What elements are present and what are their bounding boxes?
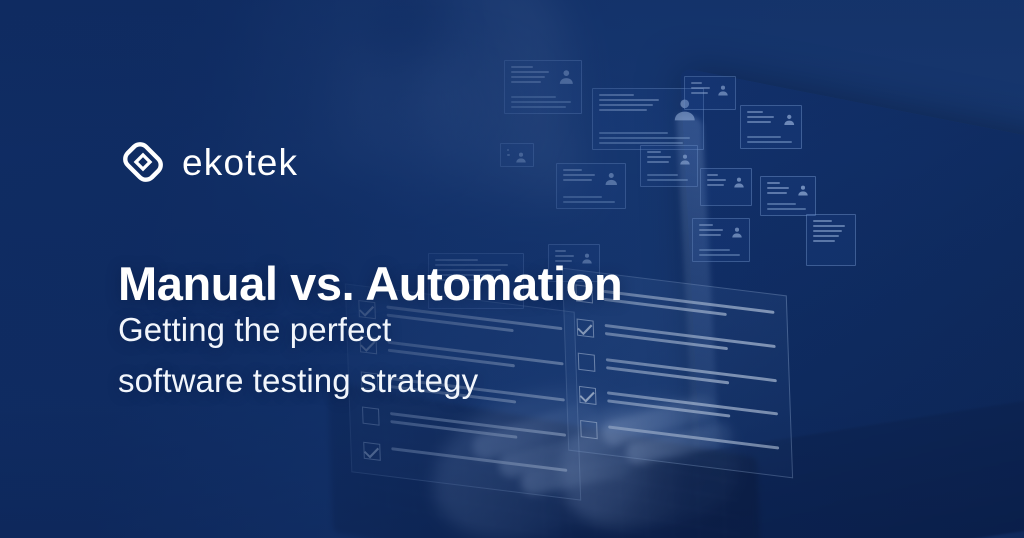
subtitle-line-1: Getting the perfect [118, 313, 391, 346]
page-title: Manual vs. Automation [118, 260, 622, 307]
subtitle-line-2: software testing strategy [118, 364, 478, 397]
brand-logo[interactable]: ekotek [118, 137, 298, 187]
card-text-lines [813, 220, 849, 260]
brand-name: ekotek [182, 144, 298, 181]
ekotek-knot-icon [118, 137, 168, 187]
banner-content: ekotek Manual vs. Automation Getting the… [118, 0, 818, 538]
marketing-banner: ekotek Manual vs. Automation Getting the… [0, 0, 1024, 538]
